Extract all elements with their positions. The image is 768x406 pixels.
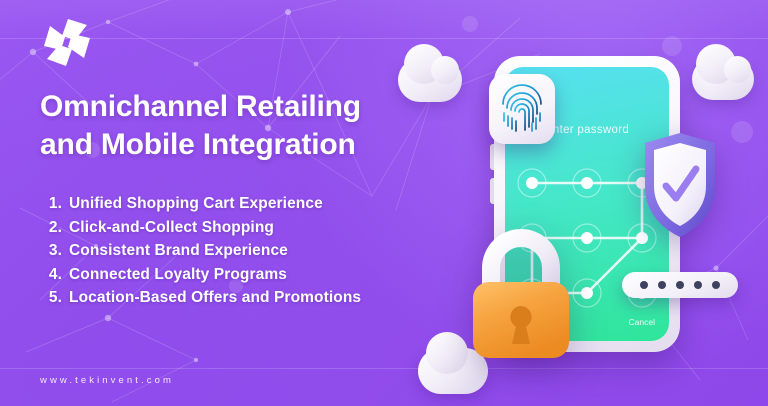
fingerprint-icon	[499, 82, 545, 134]
list-item-number: 2.	[42, 216, 62, 240]
list-item: 4. Connected Loyalty Programs	[42, 263, 472, 287]
pinwheel-logo-icon[interactable]	[38, 16, 98, 68]
list-item: 5. Location-Based Offers and Promotions	[42, 286, 472, 310]
page-title: Omnichannel Retailing and Mobile Integra…	[40, 88, 460, 164]
list-item-label: Connected Loyalty Programs	[69, 263, 287, 287]
list-item-number: 3.	[42, 239, 62, 263]
list-item-label: Unified Shopping Cart Experience	[69, 192, 323, 216]
password-dot	[694, 281, 702, 289]
phone-volume-button[interactable]	[490, 144, 494, 170]
fingerprint-card[interactable]	[489, 74, 555, 144]
list-item-label: Click-and-Collect Shopping	[69, 216, 274, 240]
website-url[interactable]: www.tekinvent.com	[40, 375, 174, 386]
list-item-number: 5.	[42, 286, 62, 310]
headline-line-1: Omnichannel Retailing	[40, 88, 460, 126]
cloud-icon	[692, 58, 754, 100]
bottom-divider-line	[0, 368, 768, 369]
password-dot	[712, 281, 720, 289]
password-dot	[676, 281, 684, 289]
list-item: 1. Unified Shopping Cart Experience	[42, 192, 472, 216]
promo-banner: Omnichannel Retailing and Mobile Integra…	[0, 0, 768, 406]
headline-line-2: and Mobile Integration	[40, 126, 460, 164]
feature-list: 1. Unified Shopping Cart Experience 2. C…	[42, 192, 472, 310]
list-item: 3. Consistent Brand Experience	[42, 239, 472, 263]
shield-check-icon	[643, 131, 717, 239]
cloud-icon	[398, 58, 462, 102]
password-dot	[640, 281, 648, 289]
padlock-icon	[463, 228, 579, 364]
list-item: 2. Click-and-Collect Shopping	[42, 216, 472, 240]
top-divider-line	[0, 38, 768, 39]
list-item-number: 4.	[42, 263, 62, 287]
password-dots-field[interactable]	[622, 272, 738, 298]
cancel-button[interactable]: Cancel	[629, 317, 655, 327]
list-item-label: Location-Based Offers and Promotions	[69, 286, 361, 310]
password-dot	[658, 281, 666, 289]
list-item-number: 1.	[42, 192, 62, 216]
list-item-label: Consistent Brand Experience	[69, 239, 288, 263]
phone-power-button[interactable]	[490, 178, 494, 204]
